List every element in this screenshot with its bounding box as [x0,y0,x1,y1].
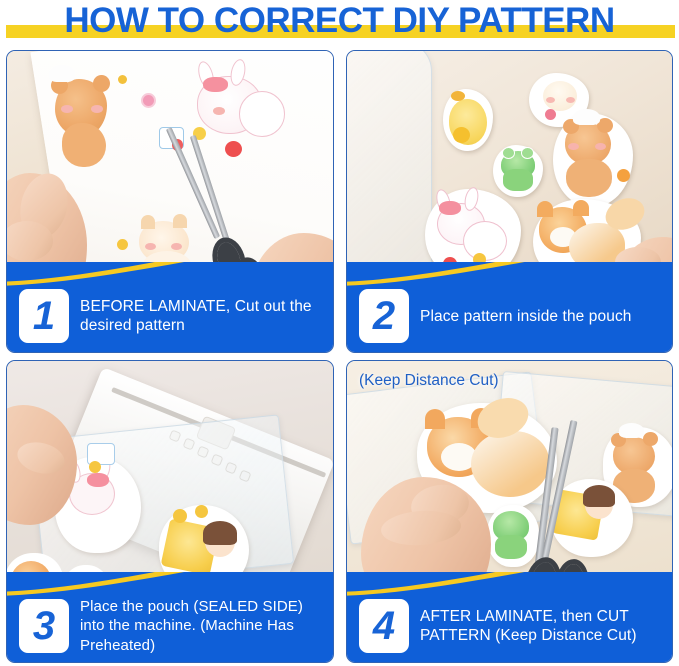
bear2-cheek-left [568,143,579,150]
step-caption-text-2: Place pattern inside the pouch [420,307,632,326]
step-number-1: 1 [33,296,55,336]
shiba-ear-left [537,201,553,217]
step-3-caption-bar: 3 Place the pouch (SEALED SIDE) into the… [7,572,333,662]
step-number-2: 2 [373,296,395,336]
bear-chef-hat [49,65,75,82]
cat2-cheek-right [566,97,575,103]
step-1-caption-body: 1 BEFORE LAMINATE, Cut out the desired p… [7,280,333,352]
frog4-body [495,535,527,559]
title-segment-1: HOW TO CORRECT [64,1,392,40]
step-number-badge-1: 1 [19,289,69,343]
star-girl-small-star-2 [195,505,208,518]
shiba4-ear-left [425,409,445,429]
cat-cheek-right [171,243,182,250]
bear4-ear-right [643,432,658,446]
lollipop-motif [141,93,156,108]
step-caption-text-4: AFTER LAMINATE, then CUT PATTERN (Keep D… [420,607,662,645]
bunny3-flower [89,461,101,473]
step-3-frame: 3 Place the pouch (SEALED SIDE) into the… [6,360,334,663]
frog-eye-right [521,147,534,159]
cat2-tulip [545,109,556,120]
step-number-badge-3: 3 [19,599,69,653]
bunny-cheek [213,107,225,115]
shiba-ear-right [573,200,589,216]
step-number-badge-4: 4 [359,599,409,653]
step-number-4: 4 [373,606,395,646]
step-caption-text-1: BEFORE LAMINATE, Cut out the desired pat… [80,297,323,335]
how-to-correct-diy-pattern-infographic: HOW TO CORRECT DIY PATTERN [0,0,679,666]
cat2-cheek-left [546,97,555,103]
cat-cheek-left [145,243,156,250]
step-2-frame: 2 Place pattern inside the pouch [346,50,673,353]
shiba4-body [471,431,549,497]
step-panel-1: 1 BEFORE LAMINATE, Cut out the desired p… [0,46,340,356]
spark-motif [118,75,127,84]
bear2-body [566,159,612,197]
step-4-frame: (Keep Distance Cut) [346,360,673,663]
title-segment-2: DIY PATTERN [393,1,615,40]
step-2-caption-bar: 2 Place pattern inside the pouch [347,262,672,352]
keep-distance-note: (Keep Distance Cut) [359,372,499,390]
step-1-frame: 1 BEFORE LAMINATE, Cut out the desired p… [6,50,334,353]
strawberry-motif-2 [225,141,242,157]
bear2-hat [573,109,600,125]
duck-star [453,127,470,143]
bear-cheek-left [61,105,73,113]
star-girl-hair [203,521,237,545]
bear2-candy [617,169,630,182]
step-2-caption-body: 2 Place pattern inside the pouch [347,280,672,352]
bear-ear-right [93,75,110,92]
step-number-badge-2: 2 [359,289,409,343]
bear-cheek-right [91,105,103,113]
step-panel-2: 2 Place pattern inside the pouch [340,46,679,356]
duck-bow [451,91,465,101]
steps-grid: 1 BEFORE LAMINATE, Cut out the desired p… [0,46,679,666]
frog-body [503,169,533,191]
bunny2-bow [439,201,461,215]
step-1-caption-bar: 1 BEFORE LAMINATE, Cut out the desired p… [7,262,333,352]
step-panel-4: (Keep Distance Cut) [340,356,679,666]
step-3-caption-body: 3 Place the pouch (SEALED SIDE) into the… [7,590,333,662]
star-girl-small-star-1 [173,509,187,523]
step-caption-text-3: Place the pouch (SEALED SIDE) into the m… [80,597,323,656]
bunny-bow [203,77,228,92]
step-4-caption-bar: 4 AFTER LAMINATE, then CUT PATTERN (Keep… [347,572,672,662]
cat2-head [543,81,577,111]
cat-ear-right [173,214,187,228]
bear2-cheek-right [595,143,606,150]
page-title: HOW TO CORRECT DIY PATTERN [0,0,679,46]
bunny3-bow [87,473,109,487]
step-number-3: 3 [33,606,55,646]
bear4-hat [619,423,644,438]
bear-body [62,123,106,167]
step-4-caption-body: 4 AFTER LAMINATE, then CUT PATTERN (Keep… [347,590,672,662]
bunny2-body [463,221,507,261]
step-panel-3: 3 Place the pouch (SEALED SIDE) into the… [0,356,340,666]
cat-ear-left [141,215,155,229]
frog-eye-left [502,147,515,159]
star-motif [117,239,128,250]
bunny-body [239,91,285,137]
title-text: HOW TO CORRECT DIY PATTERN [0,0,679,42]
star-girl4-hair [583,485,615,507]
